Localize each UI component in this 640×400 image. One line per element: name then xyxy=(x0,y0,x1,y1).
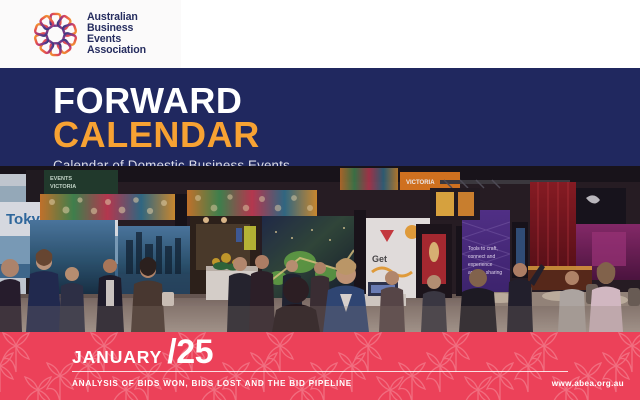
issue-month-row: JANUARY /25 xyxy=(72,335,213,369)
report-tagline: ANALYSIS OF BIDS WON, BIDS LOST AND THE … xyxy=(72,378,352,390)
hero-photo: Tokyo EVENTS VICTORIA xyxy=(0,166,640,332)
issue-month: JANUARY xyxy=(72,347,162,367)
footer-divider xyxy=(72,371,568,372)
issue-year: /25 xyxy=(167,335,213,369)
page-title-calendar: CALENDAR xyxy=(53,116,290,153)
title-block: FORWARD CALENDAR Calendar of Domestic Bu… xyxy=(53,82,290,174)
footer-banner: JANUARY /25 ANALYSIS OF BIDS WON, BIDS L… xyxy=(0,332,640,400)
hero-photo-illustration: Tokyo EVENTS VICTORIA xyxy=(0,166,640,332)
website-url[interactable]: www.abea.org.au xyxy=(552,378,624,390)
abea-logo[interactable]: Australian Business Events Association xyxy=(0,0,181,68)
forward-calendar-cover: Australian Business Events Association F… xyxy=(0,0,640,400)
abea-logo-wordmark: Australian Business Events Association xyxy=(87,12,146,56)
title-band: FORWARD CALENDAR Calendar of Domestic Bu… xyxy=(0,68,640,166)
logo-strip: Australian Business Events Association xyxy=(0,0,640,68)
abea-floral-ring-logo-icon xyxy=(31,10,80,59)
